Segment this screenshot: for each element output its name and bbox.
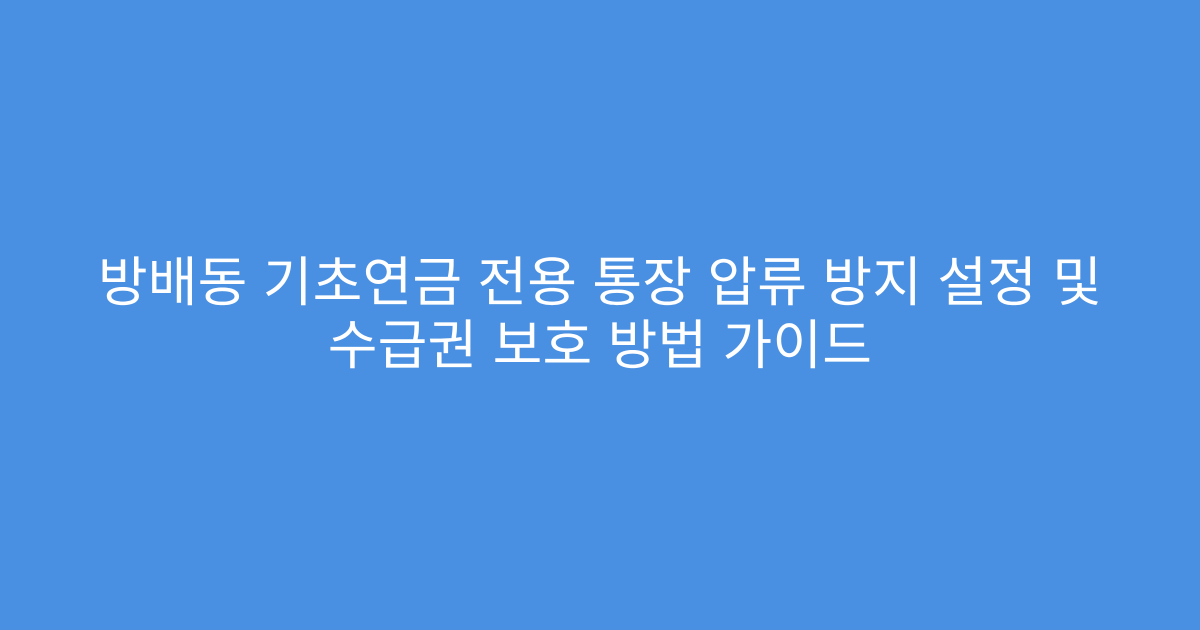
page-title-line-2: 수급권 보호 방법 가이드 (90, 315, 1110, 378)
og-image-card: 방배동 기초연금 전용 통장 압류 방지 설정 및 수급권 보호 방법 가이드 (0, 0, 1200, 630)
page-title: 방배동 기초연금 전용 통장 압류 방지 설정 및 수급권 보호 방법 가이드 (70, 252, 1130, 378)
page-title-line-1: 방배동 기초연금 전용 통장 압류 방지 설정 및 (90, 252, 1110, 315)
